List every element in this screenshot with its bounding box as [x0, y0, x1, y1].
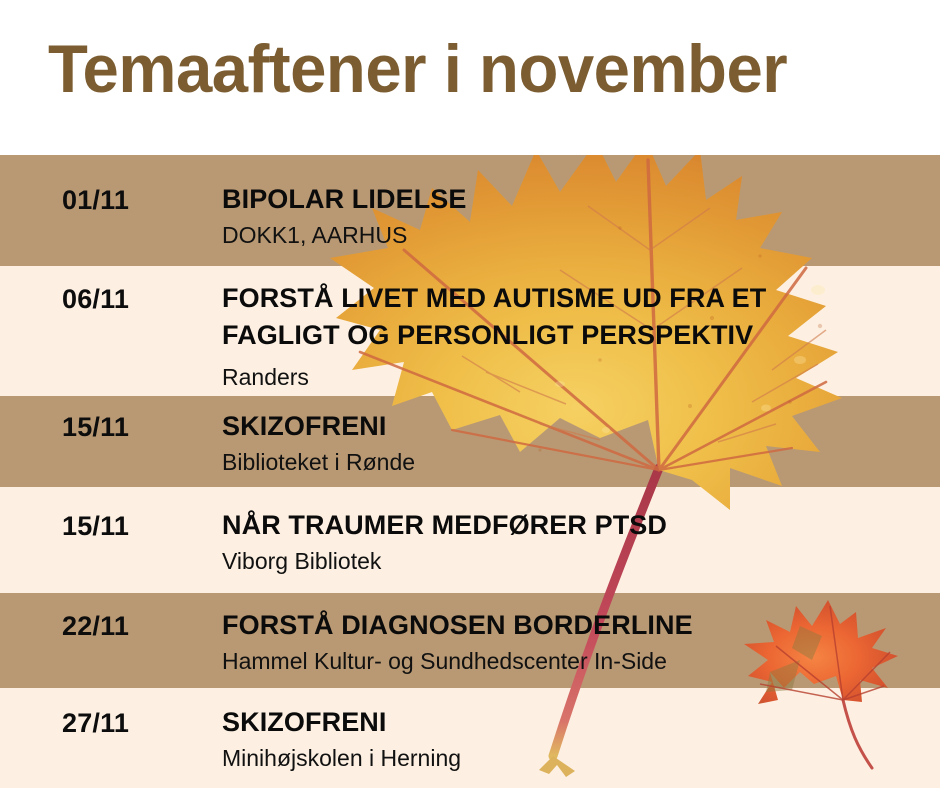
event-venue: Biblioteket i Rønde: [222, 447, 930, 478]
event-info: NÅR TRAUMER MEDFØRER PTSD Viborg Bibliot…: [222, 507, 930, 577]
event-date: 15/11: [62, 511, 129, 542]
list-item: 06/11 FORSTÅ LIVET MED AUTISME UD FRA ET…: [0, 266, 940, 396]
event-info: FORSTÅ LIVET MED AUTISME UD FRA ET FAGLI…: [222, 280, 930, 393]
event-title: FORSTÅ LIVET MED AUTISME UD FRA ET FAGLI…: [222, 280, 832, 354]
event-date: 27/11: [62, 708, 129, 739]
event-info: SKIZOFRENI Minihøjskolen i Herning: [222, 704, 930, 774]
list-item: 15/11 NÅR TRAUMER MEDFØRER PTSD Viborg B…: [0, 487, 940, 593]
event-date: 22/11: [62, 611, 129, 642]
page-title: Temaaftener i november: [48, 33, 787, 105]
event-venue: DOKK1, AARHUS: [222, 220, 930, 251]
event-title: BIPOLAR LIDELSE: [222, 181, 930, 218]
event-title: SKIZOFRENI: [222, 704, 930, 741]
event-title: SKIZOFRENI: [222, 408, 930, 445]
list-item: 27/11 SKIZOFRENI Minihøjskolen i Herning: [0, 688, 940, 788]
event-title: NÅR TRAUMER MEDFØRER PTSD: [222, 507, 930, 544]
event-info: SKIZOFRENI Biblioteket i Rønde: [222, 408, 930, 478]
list-item: 22/11 FORSTÅ DIAGNOSEN BORDERLINE Hammel…: [0, 593, 940, 688]
event-title: FORSTÅ DIAGNOSEN BORDERLINE: [222, 607, 930, 644]
poster-canvas: Temaaftener i november 01/11 BIPOLAR LID…: [0, 0, 940, 788]
event-date: 01/11: [62, 185, 129, 216]
list-item: 15/11 SKIZOFRENI Biblioteket i Rønde: [0, 396, 940, 487]
poster-header: Temaaftener i november: [0, 0, 940, 155]
event-venue: Randers: [222, 362, 930, 393]
event-venue: Minihøjskolen i Herning: [222, 743, 930, 774]
event-venue: Viborg Bibliotek: [222, 546, 930, 577]
list-item: 01/11 BIPOLAR LIDELSE DOKK1, AARHUS: [0, 155, 940, 266]
event-info: BIPOLAR LIDELSE DOKK1, AARHUS: [222, 181, 930, 251]
event-date: 06/11: [62, 284, 129, 315]
event-venue: Hammel Kultur- og Sundhedscenter In-Side: [222, 646, 930, 677]
event-info: FORSTÅ DIAGNOSEN BORDERLINE Hammel Kultu…: [222, 607, 930, 677]
event-date: 15/11: [62, 412, 129, 443]
